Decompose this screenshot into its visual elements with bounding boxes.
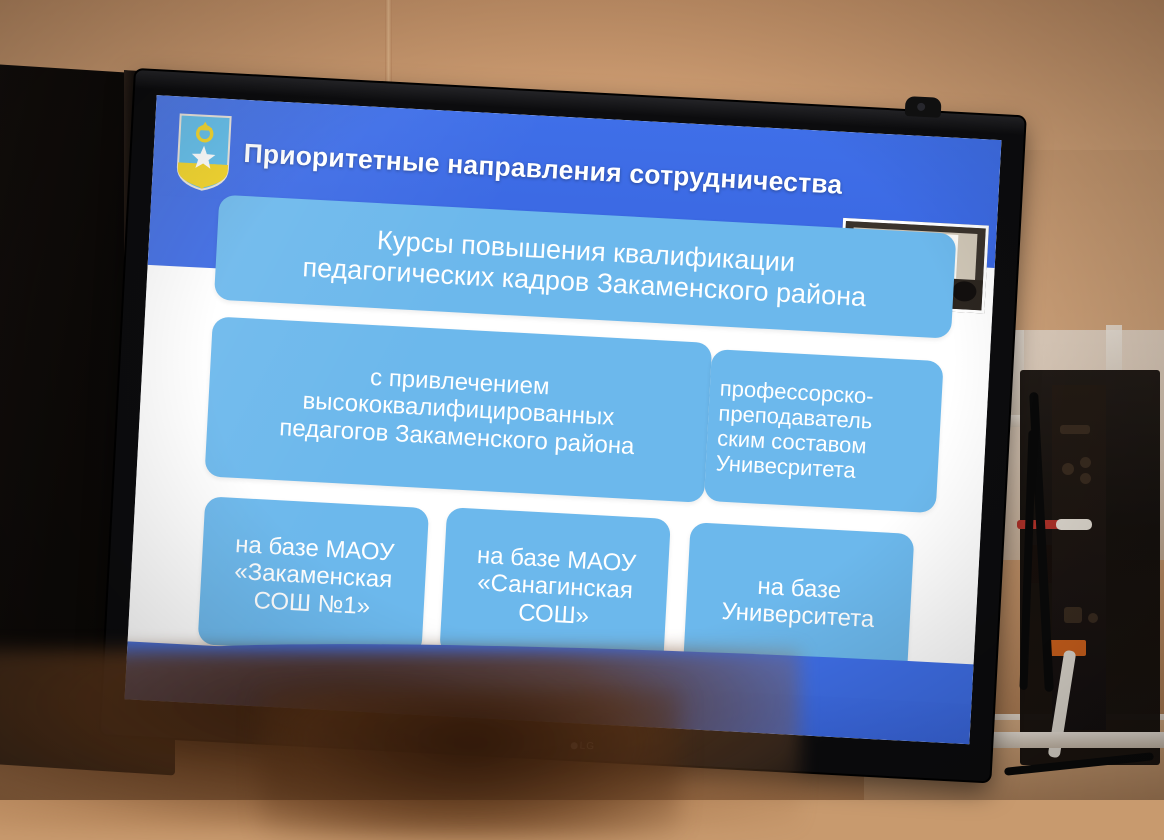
box-with-teachers-text: с привлечением высококвалифицированных п… bbox=[279, 359, 638, 460]
rack-port-jack-2 bbox=[1080, 457, 1091, 468]
presentation-slide: Приоритетные направления сотрудничества bbox=[125, 95, 1002, 744]
rack-port-antenna bbox=[1060, 425, 1090, 434]
box-sanaginskaya-school: на базе МАОУ «Санагинская СОШ» bbox=[439, 507, 671, 667]
box-zakamenskaya-school-text: на базе МАОУ «Закаменская СОШ №1» bbox=[232, 531, 395, 621]
box-zakamenskaya-school: на базе МАОУ «Закаменская СОШ №1» bbox=[198, 496, 430, 656]
coat-of-arms-icon bbox=[174, 112, 234, 193]
rca-cable-white bbox=[1056, 519, 1092, 530]
course-title-text: Курсы повышения квалификации педагогичес… bbox=[302, 221, 869, 312]
foreground-person-head bbox=[260, 690, 680, 840]
rack-shelf bbox=[984, 732, 1164, 748]
box-with-faculty-text: профессорско- преподаватель ским составо… bbox=[715, 375, 874, 483]
box-with-faculty: профессорско- преподаватель ским составо… bbox=[704, 349, 944, 513]
rack-port-usb bbox=[1088, 613, 1098, 623]
box-sanaginskaya-school-text: на базе МАОУ «Санагинская СОШ» bbox=[473, 542, 636, 632]
rack-port-ethernet bbox=[1064, 607, 1082, 623]
rack-port-jack-1 bbox=[1062, 463, 1074, 475]
tv-screen: Приоритетные направления сотрудничества bbox=[125, 95, 1002, 744]
box-with-teachers: с привлечением высококвалифицированных п… bbox=[204, 316, 712, 502]
rack-port-jack-3 bbox=[1080, 473, 1091, 484]
box-university-base-text: на базе Университета bbox=[721, 571, 876, 634]
